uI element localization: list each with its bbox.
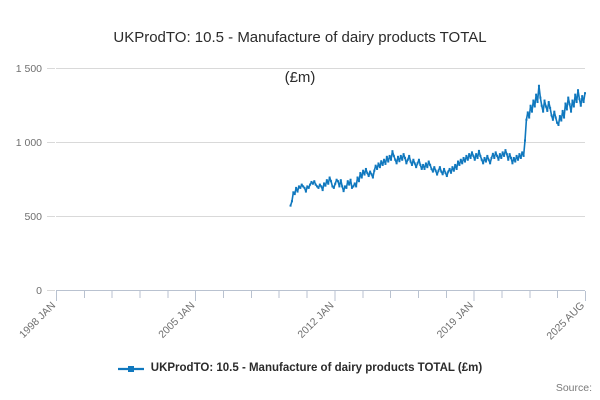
series-marker [359, 172, 361, 174]
series-marker [294, 193, 296, 195]
series-marker [348, 184, 350, 186]
series-marker [527, 111, 529, 113]
x-axis-tick-label: 2005 JAN [156, 300, 197, 341]
series-marker [313, 180, 315, 182]
series-marker [400, 155, 402, 157]
source-note: Source: [556, 382, 592, 394]
series-marker [326, 179, 328, 181]
data-series-group [290, 85, 586, 207]
series-marker [375, 165, 377, 167]
series-marker [408, 155, 410, 157]
series-marker [537, 101, 539, 103]
series-marker [546, 110, 548, 112]
series-marker [516, 155, 518, 157]
series-marker [397, 156, 399, 158]
series-marker [456, 168, 458, 170]
series-marker [377, 162, 379, 164]
series-marker [559, 115, 561, 117]
series-marker [551, 114, 553, 116]
x-axis-labels-group: 1998 JAN2005 JAN2012 JAN2019 JAN2025 AUG [17, 300, 587, 343]
series-marker [484, 157, 486, 159]
series-marker [419, 164, 421, 166]
series-marker [352, 185, 354, 187]
series-marker [398, 160, 400, 162]
series-marker [291, 200, 293, 202]
series-marker [544, 100, 546, 102]
x-axis-tick-label: 2019 JAN [435, 300, 476, 341]
series-marker [464, 161, 466, 163]
series-marker [556, 122, 558, 124]
series-marker [497, 159, 499, 161]
series-marker [454, 164, 456, 166]
series-marker [461, 162, 463, 164]
series-marker [415, 166, 417, 168]
series-marker [584, 92, 586, 94]
series-marker [566, 108, 568, 110]
series-marker [485, 161, 487, 163]
series-marker [507, 159, 509, 161]
series-marker [384, 163, 386, 165]
series-marker [511, 162, 513, 164]
series-marker [428, 161, 430, 163]
series-marker [431, 168, 433, 170]
series-marker [500, 157, 502, 159]
chart-plot-svg: 05001 0001 500 1998 JAN2005 JAN2012 JAN2… [0, 0, 600, 400]
series-marker [571, 100, 573, 102]
y-axis-tick-label: 1 000 [16, 137, 42, 149]
series-marker [468, 153, 470, 155]
series-marker [549, 107, 551, 109]
series-marker [376, 168, 378, 170]
series-marker [446, 175, 448, 177]
series-marker [453, 170, 455, 172]
series-marker [422, 164, 424, 166]
series-marker [553, 111, 555, 113]
series-marker [396, 162, 398, 164]
series-marker [506, 153, 508, 155]
series-marker [510, 157, 512, 159]
series-marker [425, 162, 427, 164]
series-marker [364, 174, 366, 176]
series-marker [382, 164, 384, 166]
series-marker [309, 184, 311, 186]
series-marker [411, 164, 413, 166]
chart-container: UKProdTO: 10.5 - Manufacture of dairy pr… [0, 0, 600, 400]
y-axis-tick-label: 1 500 [16, 63, 42, 75]
series-marker [292, 191, 294, 193]
series-marker [475, 153, 477, 155]
series-marker [488, 159, 490, 161]
series-marker [343, 190, 345, 192]
series-marker [463, 157, 465, 159]
series-marker [439, 166, 441, 168]
series-marker [354, 182, 356, 184]
series-marker [492, 153, 494, 155]
series-marker [418, 159, 420, 161]
series-marker [467, 159, 469, 161]
y-axis-tick-label: 0 [36, 285, 42, 297]
series-marker [460, 159, 462, 161]
series-marker [538, 85, 540, 87]
series-marker [305, 191, 307, 193]
series-marker [386, 156, 388, 158]
series-marker [383, 159, 385, 161]
series-marker [560, 120, 562, 122]
series-marker [345, 187, 347, 189]
series-marker [524, 140, 526, 142]
series-marker [437, 170, 439, 172]
series-marker [433, 166, 435, 168]
series-marker [338, 185, 340, 187]
series-marker [528, 117, 530, 119]
series-marker [555, 117, 557, 119]
series-marker [405, 162, 407, 164]
series-marker [369, 171, 371, 173]
series-marker [450, 172, 452, 174]
series-marker [474, 159, 476, 161]
series-marker [324, 185, 326, 187]
series-marker [436, 174, 438, 176]
series-marker [552, 119, 554, 121]
x-axis-group [56, 291, 586, 302]
series-marker [443, 168, 445, 170]
series-marker [361, 177, 363, 179]
series-marker [444, 172, 446, 174]
series-marker [531, 111, 533, 113]
series-marker [347, 180, 349, 182]
series-marker [569, 103, 571, 105]
series-marker [574, 94, 576, 96]
series-marker [329, 177, 331, 179]
series-marker [308, 187, 310, 189]
series-marker [407, 159, 409, 161]
series-marker [373, 170, 375, 172]
series-marker [380, 160, 382, 162]
series-marker [330, 180, 332, 182]
series-marker [312, 183, 314, 185]
series-marker [451, 166, 453, 168]
series-marker [578, 98, 580, 100]
series-marker [504, 149, 506, 151]
series-marker [471, 151, 473, 153]
series-marker [489, 162, 491, 164]
x-axis-tick-label: 1998 JAN [17, 300, 58, 341]
series-marker [358, 180, 360, 182]
series-marker [491, 157, 493, 159]
series-marker [509, 153, 511, 155]
gridlines-group [47, 69, 585, 291]
series-marker [337, 180, 339, 182]
series-marker [532, 100, 534, 102]
series-marker [481, 159, 483, 161]
series-marker [394, 159, 396, 161]
series-marker [442, 173, 444, 175]
series-marker [548, 101, 550, 103]
series-marker [412, 159, 414, 161]
series-marker [417, 162, 419, 164]
series-marker [393, 155, 395, 157]
series-marker [567, 97, 569, 99]
series-marker [426, 166, 428, 168]
series-marker [320, 185, 322, 187]
series-marker [545, 105, 547, 107]
series-marker [518, 153, 520, 155]
series-marker [535, 94, 537, 96]
series-marker [447, 171, 449, 173]
series-marker [432, 171, 434, 173]
series-marker [477, 157, 479, 159]
series-marker [458, 164, 460, 166]
series-marker [403, 153, 405, 155]
series-marker [319, 184, 321, 186]
series-marker [387, 161, 389, 163]
series-marker [304, 187, 306, 189]
series-marker [410, 161, 412, 163]
series-marker [573, 105, 575, 107]
series-marker [523, 155, 525, 157]
series-marker [534, 105, 536, 107]
series-marker [429, 164, 431, 166]
series-marker [514, 161, 516, 163]
chart-legend: UKProdTO: 10.5 - Manufacture of dairy pr… [0, 362, 600, 374]
x-axis-tick-label: 2025 AUG [544, 300, 587, 343]
series-marker [465, 155, 467, 157]
series-marker [499, 153, 501, 155]
series-marker [557, 124, 559, 126]
x-axis-tick-label: 2012 JAN [295, 300, 336, 341]
series-marker [457, 161, 459, 163]
series-marker [562, 110, 564, 112]
series-marker [334, 183, 336, 185]
series-marker [368, 175, 370, 177]
series-marker [389, 155, 391, 157]
series-marker [424, 168, 426, 170]
series-marker [580, 105, 582, 107]
series-marker [564, 103, 566, 105]
series-marker [496, 155, 498, 157]
series-marker [333, 187, 335, 189]
series-marker [440, 171, 442, 173]
series-marker [350, 179, 352, 181]
series-marker [365, 168, 367, 170]
series-marker [391, 150, 393, 152]
series-marker [327, 183, 329, 185]
series-marker [542, 111, 544, 113]
series-marker [301, 184, 303, 186]
series-marker [366, 172, 368, 174]
series-marker [577, 89, 579, 91]
series-marker [372, 177, 374, 179]
series-marker [541, 105, 543, 107]
legend-line-marker-icon [118, 362, 144, 374]
series-marker [315, 184, 317, 186]
series-marker [513, 157, 515, 159]
series-marker [583, 101, 585, 103]
series-marker [310, 181, 312, 183]
series-marker [539, 97, 541, 99]
series-marker [525, 119, 527, 121]
series-marker [576, 101, 578, 103]
series-marker [435, 170, 437, 172]
series-marker [323, 182, 325, 184]
series-marker [421, 168, 423, 170]
y-axis-labels-group: 05001 0001 500 [16, 63, 42, 297]
series-marker [470, 157, 472, 159]
series-marker [486, 155, 488, 157]
y-axis-tick-label: 500 [24, 211, 42, 223]
series-marker [493, 157, 495, 159]
series-marker [482, 162, 484, 164]
series-marker [502, 151, 504, 153]
series-marker [521, 151, 523, 153]
series-marker [472, 155, 474, 157]
series-marker [371, 173, 373, 175]
series-marker [479, 155, 481, 157]
series-marker [404, 157, 406, 159]
series-marker [355, 185, 357, 187]
series-marker [503, 155, 505, 157]
series-marker [340, 179, 342, 181]
series-marker [581, 95, 583, 97]
legend-label: UKProdTO: 10.5 - Manufacture of dairy pr… [151, 362, 482, 374]
series-marker [414, 162, 416, 164]
series-marker [379, 166, 381, 168]
series-marker [390, 159, 392, 161]
series-marker [449, 168, 451, 170]
series-marker [478, 150, 480, 152]
series-marker [520, 157, 522, 159]
series-marker [290, 205, 292, 207]
series-marker [299, 187, 301, 189]
series-marker [295, 187, 297, 189]
series-marker [495, 151, 497, 153]
series-marker [297, 191, 299, 193]
series-marker [341, 185, 343, 187]
series-marker [317, 187, 319, 189]
series-marker [322, 189, 324, 191]
series-marker [401, 159, 403, 161]
series-marker [517, 159, 519, 161]
series-marker [563, 117, 565, 119]
series-marker [357, 177, 359, 179]
series-marker [530, 105, 532, 107]
series-marker [570, 111, 572, 113]
series-marker [362, 170, 364, 172]
